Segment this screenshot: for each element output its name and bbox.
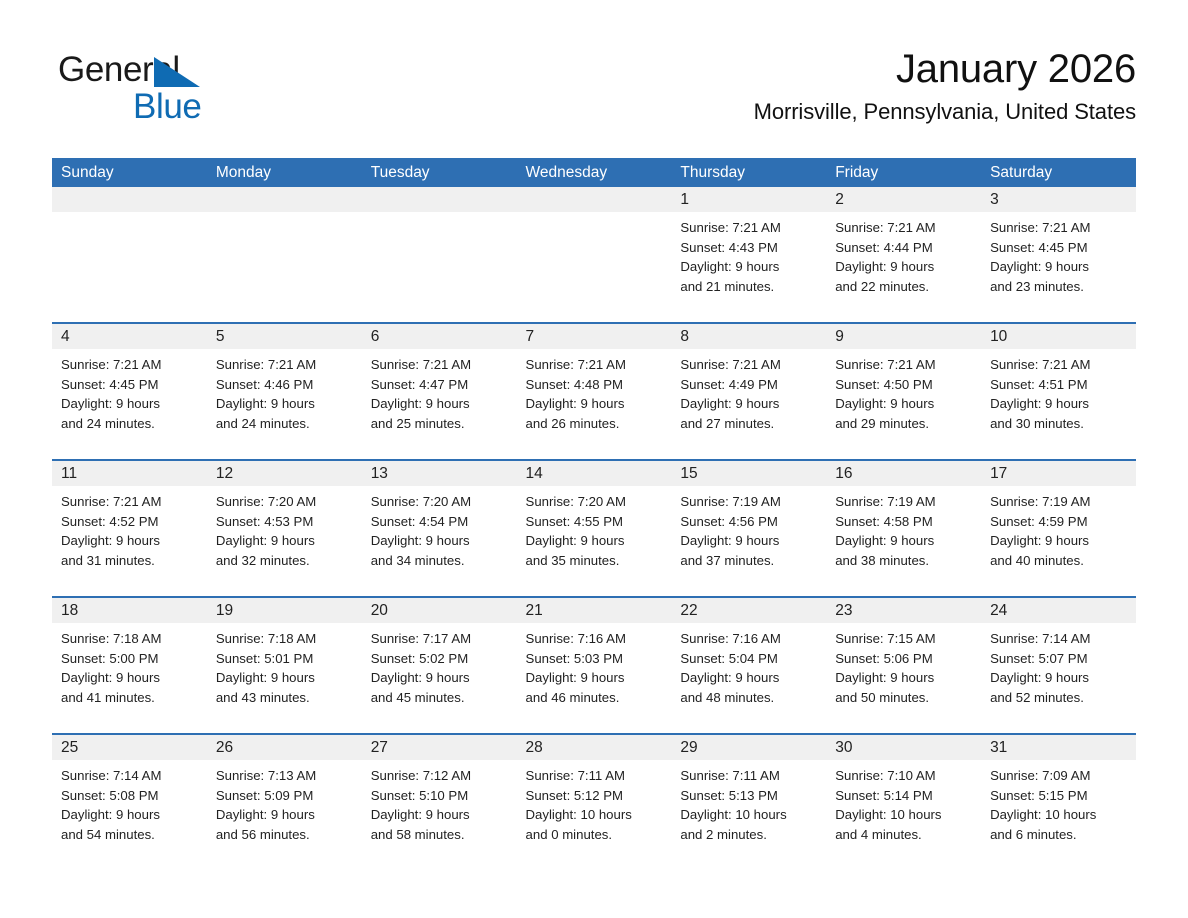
daylight-text-line2: and 48 minutes. — [680, 688, 820, 708]
day-details: Sunrise: 7:16 AMSunset: 5:04 PMDaylight:… — [671, 623, 826, 708]
day-number: 22 — [671, 598, 826, 623]
daylight-text-line1: Daylight: 10 hours — [990, 805, 1130, 825]
day-details: Sunrise: 7:11 AMSunset: 5:12 PMDaylight:… — [517, 760, 672, 845]
sunrise-text: Sunrise: 7:20 AM — [371, 492, 511, 512]
day-cell-inner: 26Sunrise: 7:13 AMSunset: 5:09 PMDayligh… — [207, 735, 362, 870]
day-cell-inner: 11Sunrise: 7:21 AMSunset: 4:52 PMDayligh… — [52, 461, 207, 596]
weekday-header-tuesday: Tuesday — [362, 158, 517, 187]
day-number — [207, 187, 362, 212]
sunset-text: Sunset: 5:00 PM — [61, 649, 201, 669]
sunrise-text: Sunrise: 7:11 AM — [526, 766, 666, 786]
daylight-text-line1: Daylight: 9 hours — [990, 257, 1130, 277]
day-number: 25 — [52, 735, 207, 760]
sunset-text: Sunset: 5:08 PM — [61, 786, 201, 806]
day-details: Sunrise: 7:21 AMSunset: 4:48 PMDaylight:… — [517, 349, 672, 434]
sunrise-text: Sunrise: 7:21 AM — [990, 218, 1130, 238]
day-cell-inner: 22Sunrise: 7:16 AMSunset: 5:04 PMDayligh… — [671, 598, 826, 733]
day-number: 23 — [826, 598, 981, 623]
day-number: 20 — [362, 598, 517, 623]
sunrise-text: Sunrise: 7:14 AM — [990, 629, 1130, 649]
sunrise-text: Sunrise: 7:21 AM — [61, 355, 201, 375]
day-number: 4 — [52, 324, 207, 349]
daylight-text-line1: Daylight: 10 hours — [526, 805, 666, 825]
day-cell-inner: 21Sunrise: 7:16 AMSunset: 5:03 PMDayligh… — [517, 598, 672, 733]
daylight-text-line1: Daylight: 9 hours — [680, 668, 820, 688]
day-number: 11 — [52, 461, 207, 486]
day-details: Sunrise: 7:21 AMSunset: 4:46 PMDaylight:… — [207, 349, 362, 434]
day-details: Sunrise: 7:19 AMSunset: 4:59 PMDaylight:… — [981, 486, 1136, 571]
day-cell[interactable]: 17Sunrise: 7:19 AMSunset: 4:59 PMDayligh… — [981, 460, 1136, 597]
day-cell[interactable]: 4Sunrise: 7:21 AMSunset: 4:45 PMDaylight… — [52, 323, 207, 460]
daylight-text-line1: Daylight: 9 hours — [835, 668, 975, 688]
day-cell[interactable]: 28Sunrise: 7:11 AMSunset: 5:12 PMDayligh… — [517, 734, 672, 870]
weekday-header-saturday: Saturday — [981, 158, 1136, 187]
day-cell-inner: 29Sunrise: 7:11 AMSunset: 5:13 PMDayligh… — [671, 735, 826, 870]
sunrise-text: Sunrise: 7:21 AM — [526, 355, 666, 375]
day-number — [517, 187, 672, 212]
day-cell-inner — [207, 187, 362, 322]
day-details: Sunrise: 7:21 AMSunset: 4:45 PMDaylight:… — [52, 349, 207, 434]
day-cell[interactable]: 16Sunrise: 7:19 AMSunset: 4:58 PMDayligh… — [826, 460, 981, 597]
sunset-text: Sunset: 4:48 PM — [526, 375, 666, 395]
sunrise-text: Sunrise: 7:14 AM — [61, 766, 201, 786]
daylight-text-line2: and 34 minutes. — [371, 551, 511, 571]
generalblue-logo[interactable]: General Blue — [58, 52, 278, 124]
sunset-text: Sunset: 4:46 PM — [216, 375, 356, 395]
daylight-text-line2: and 58 minutes. — [371, 825, 511, 845]
sunset-text: Sunset: 5:10 PM — [371, 786, 511, 806]
sunrise-text: Sunrise: 7:16 AM — [526, 629, 666, 649]
day-cell-inner — [362, 187, 517, 322]
day-cell[interactable]: 21Sunrise: 7:16 AMSunset: 5:03 PMDayligh… — [517, 597, 672, 734]
sunset-text: Sunset: 5:01 PM — [216, 649, 356, 669]
sunrise-text: Sunrise: 7:21 AM — [216, 355, 356, 375]
day-cell[interactable]: 31Sunrise: 7:09 AMSunset: 5:15 PMDayligh… — [981, 734, 1136, 870]
day-cell-inner: 25Sunrise: 7:14 AMSunset: 5:08 PMDayligh… — [52, 735, 207, 870]
day-cell-inner: 10Sunrise: 7:21 AMSunset: 4:51 PMDayligh… — [981, 324, 1136, 459]
daylight-text-line1: Daylight: 10 hours — [680, 805, 820, 825]
day-cell[interactable]: 27Sunrise: 7:12 AMSunset: 5:10 PMDayligh… — [362, 734, 517, 870]
daylight-text-line1: Daylight: 9 hours — [526, 531, 666, 551]
day-cell[interactable]: 24Sunrise: 7:14 AMSunset: 5:07 PMDayligh… — [981, 597, 1136, 734]
day-details: Sunrise: 7:09 AMSunset: 5:15 PMDaylight:… — [981, 760, 1136, 845]
sunrise-text: Sunrise: 7:12 AM — [371, 766, 511, 786]
day-cell[interactable]: 1Sunrise: 7:21 AMSunset: 4:43 PMDaylight… — [671, 187, 826, 323]
sunset-text: Sunset: 4:54 PM — [371, 512, 511, 532]
day-cell[interactable]: 30Sunrise: 7:10 AMSunset: 5:14 PMDayligh… — [826, 734, 981, 870]
sunset-text: Sunset: 4:45 PM — [61, 375, 201, 395]
day-cell[interactable]: 22Sunrise: 7:16 AMSunset: 5:04 PMDayligh… — [671, 597, 826, 734]
sunrise-text: Sunrise: 7:19 AM — [680, 492, 820, 512]
daylight-text-line2: and 43 minutes. — [216, 688, 356, 708]
daylight-text-line1: Daylight: 9 hours — [371, 805, 511, 825]
day-cell[interactable]: 29Sunrise: 7:11 AMSunset: 5:13 PMDayligh… — [671, 734, 826, 870]
day-number: 6 — [362, 324, 517, 349]
daylight-text-line1: Daylight: 9 hours — [61, 394, 201, 414]
daylight-text-line1: Daylight: 9 hours — [526, 668, 666, 688]
calendar-week-row: 18Sunrise: 7:18 AMSunset: 5:00 PMDayligh… — [52, 597, 1136, 734]
day-number: 28 — [517, 735, 672, 760]
day-cell-inner: 31Sunrise: 7:09 AMSunset: 5:15 PMDayligh… — [981, 735, 1136, 870]
day-details: Sunrise: 7:21 AMSunset: 4:44 PMDaylight:… — [826, 212, 981, 297]
daylight-text-line1: Daylight: 9 hours — [990, 394, 1130, 414]
day-details: Sunrise: 7:17 AMSunset: 5:02 PMDaylight:… — [362, 623, 517, 708]
daylight-text-line2: and 21 minutes. — [680, 277, 820, 297]
sunset-text: Sunset: 5:13 PM — [680, 786, 820, 806]
day-cell[interactable]: 26Sunrise: 7:13 AMSunset: 5:09 PMDayligh… — [207, 734, 362, 870]
sunset-text: Sunset: 5:14 PM — [835, 786, 975, 806]
day-cell[interactable]: 19Sunrise: 7:18 AMSunset: 5:01 PMDayligh… — [207, 597, 362, 734]
daylight-text-line1: Daylight: 9 hours — [371, 394, 511, 414]
calendar-week-row: 25Sunrise: 7:14 AMSunset: 5:08 PMDayligh… — [52, 734, 1136, 870]
day-number: 17 — [981, 461, 1136, 486]
day-cell-inner: 13Sunrise: 7:20 AMSunset: 4:54 PMDayligh… — [362, 461, 517, 596]
day-details: Sunrise: 7:13 AMSunset: 5:09 PMDaylight:… — [207, 760, 362, 845]
day-cell-inner: 14Sunrise: 7:20 AMSunset: 4:55 PMDayligh… — [517, 461, 672, 596]
day-cell-inner: 8Sunrise: 7:21 AMSunset: 4:49 PMDaylight… — [671, 324, 826, 459]
day-cell-inner: 18Sunrise: 7:18 AMSunset: 5:00 PMDayligh… — [52, 598, 207, 733]
day-details: Sunrise: 7:15 AMSunset: 5:06 PMDaylight:… — [826, 623, 981, 708]
day-cell-inner: 12Sunrise: 7:20 AMSunset: 4:53 PMDayligh… — [207, 461, 362, 596]
day-number: 21 — [517, 598, 672, 623]
day-number: 8 — [671, 324, 826, 349]
day-number: 16 — [826, 461, 981, 486]
day-cell-inner: 24Sunrise: 7:14 AMSunset: 5:07 PMDayligh… — [981, 598, 1136, 733]
sunrise-text: Sunrise: 7:09 AM — [990, 766, 1130, 786]
day-cell-inner: 23Sunrise: 7:15 AMSunset: 5:06 PMDayligh… — [826, 598, 981, 733]
sunset-text: Sunset: 4:59 PM — [990, 512, 1130, 532]
day-details: Sunrise: 7:21 AMSunset: 4:52 PMDaylight:… — [52, 486, 207, 571]
day-cell-empty — [52, 187, 207, 323]
day-cell-inner: 9Sunrise: 7:21 AMSunset: 4:50 PMDaylight… — [826, 324, 981, 459]
daylight-text-line2: and 4 minutes. — [835, 825, 975, 845]
day-number: 12 — [207, 461, 362, 486]
sunset-text: Sunset: 4:50 PM — [835, 375, 975, 395]
sunrise-text: Sunrise: 7:21 AM — [371, 355, 511, 375]
day-cell-inner: 19Sunrise: 7:18 AMSunset: 5:01 PMDayligh… — [207, 598, 362, 733]
sunset-text: Sunset: 5:15 PM — [990, 786, 1130, 806]
day-cell-inner: 28Sunrise: 7:11 AMSunset: 5:12 PMDayligh… — [517, 735, 672, 870]
day-cell[interactable]: 15Sunrise: 7:19 AMSunset: 4:56 PMDayligh… — [671, 460, 826, 597]
sunset-text: Sunset: 5:02 PM — [371, 649, 511, 669]
sunset-text: Sunset: 4:44 PM — [835, 238, 975, 258]
day-cell[interactable]: 20Sunrise: 7:17 AMSunset: 5:02 PMDayligh… — [362, 597, 517, 734]
sunrise-text: Sunrise: 7:13 AM — [216, 766, 356, 786]
weekday-header-wednesday: Wednesday — [517, 158, 672, 187]
day-details: Sunrise: 7:20 AMSunset: 4:55 PMDaylight:… — [517, 486, 672, 571]
daylight-text-line2: and 0 minutes. — [526, 825, 666, 845]
daylight-text-line1: Daylight: 9 hours — [680, 257, 820, 277]
sunrise-text: Sunrise: 7:21 AM — [835, 218, 975, 238]
day-number: 5 — [207, 324, 362, 349]
sunset-text: Sunset: 4:47 PM — [371, 375, 511, 395]
day-details: Sunrise: 7:21 AMSunset: 4:49 PMDaylight:… — [671, 349, 826, 434]
daylight-text-line1: Daylight: 9 hours — [835, 394, 975, 414]
sunset-text: Sunset: 5:09 PM — [216, 786, 356, 806]
day-cell-inner: 16Sunrise: 7:19 AMSunset: 4:58 PMDayligh… — [826, 461, 981, 596]
triangle-icon — [154, 57, 200, 87]
day-details: Sunrise: 7:11 AMSunset: 5:13 PMDaylight:… — [671, 760, 826, 845]
sunset-text: Sunset: 5:04 PM — [680, 649, 820, 669]
daylight-text-line1: Daylight: 9 hours — [61, 668, 201, 688]
page-subtitle: Morrisville, Pennsylvania, United States — [754, 99, 1136, 125]
day-cell-inner: 7Sunrise: 7:21 AMSunset: 4:48 PMDaylight… — [517, 324, 672, 459]
day-cell-inner: 2Sunrise: 7:21 AMSunset: 4:44 PMDaylight… — [826, 187, 981, 322]
day-details: Sunrise: 7:19 AMSunset: 4:58 PMDaylight:… — [826, 486, 981, 571]
daylight-text-line1: Daylight: 9 hours — [61, 531, 201, 551]
day-cell[interactable]: 2Sunrise: 7:21 AMSunset: 4:44 PMDaylight… — [826, 187, 981, 323]
daylight-text-line2: and 31 minutes. — [61, 551, 201, 571]
sunset-text: Sunset: 5:06 PM — [835, 649, 975, 669]
day-cell[interactable]: 13Sunrise: 7:20 AMSunset: 4:54 PMDayligh… — [362, 460, 517, 597]
day-number: 29 — [671, 735, 826, 760]
daylight-text-line1: Daylight: 9 hours — [216, 394, 356, 414]
calendar-week-row: 11Sunrise: 7:21 AMSunset: 4:52 PMDayligh… — [52, 460, 1136, 597]
day-cell-empty — [362, 187, 517, 323]
daylight-text-line2: and 23 minutes. — [990, 277, 1130, 297]
daylight-text-line1: Daylight: 9 hours — [371, 531, 511, 551]
daylight-text-line1: Daylight: 9 hours — [835, 531, 975, 551]
daylight-text-line1: Daylight: 9 hours — [216, 805, 356, 825]
day-details: Sunrise: 7:21 AMSunset: 4:50 PMDaylight:… — [826, 349, 981, 434]
day-number: 1 — [671, 187, 826, 212]
day-cell[interactable]: 18Sunrise: 7:18 AMSunset: 5:00 PMDayligh… — [52, 597, 207, 734]
day-number: 15 — [671, 461, 826, 486]
daylight-text-line2: and 52 minutes. — [990, 688, 1130, 708]
day-number — [52, 187, 207, 212]
sunrise-text: Sunrise: 7:15 AM — [835, 629, 975, 649]
daylight-text-line2: and 24 minutes. — [61, 414, 201, 434]
day-cell[interactable]: 25Sunrise: 7:14 AMSunset: 5:08 PMDayligh… — [52, 734, 207, 870]
day-number: 30 — [826, 735, 981, 760]
sunset-text: Sunset: 5:03 PM — [526, 649, 666, 669]
daylight-text-line1: Daylight: 9 hours — [680, 531, 820, 551]
day-number: 13 — [362, 461, 517, 486]
day-number: 18 — [52, 598, 207, 623]
day-details: Sunrise: 7:14 AMSunset: 5:08 PMDaylight:… — [52, 760, 207, 845]
daylight-text-line2: and 24 minutes. — [216, 414, 356, 434]
day-cell-empty — [517, 187, 672, 323]
sunset-text: Sunset: 4:51 PM — [990, 375, 1130, 395]
weekday-header-friday: Friday — [826, 158, 981, 187]
sunset-text: Sunset: 4:55 PM — [526, 512, 666, 532]
day-cell[interactable]: 6Sunrise: 7:21 AMSunset: 4:47 PMDaylight… — [362, 323, 517, 460]
logo-line-general: General — [58, 52, 278, 90]
daylight-text-line2: and 56 minutes. — [216, 825, 356, 845]
sunrise-text: Sunrise: 7:16 AM — [680, 629, 820, 649]
day-cell-inner — [517, 187, 672, 322]
sunrise-text: Sunrise: 7:18 AM — [61, 629, 201, 649]
sunrise-text: Sunrise: 7:10 AM — [835, 766, 975, 786]
day-number: 9 — [826, 324, 981, 349]
sunrise-text: Sunrise: 7:20 AM — [526, 492, 666, 512]
day-cell-inner: 15Sunrise: 7:19 AMSunset: 4:56 PMDayligh… — [671, 461, 826, 596]
day-cell[interactable]: 7Sunrise: 7:21 AMSunset: 4:48 PMDaylight… — [517, 323, 672, 460]
calendar-header-row: Sunday Monday Tuesday Wednesday Thursday… — [52, 158, 1136, 187]
sunrise-text: Sunrise: 7:21 AM — [835, 355, 975, 375]
daylight-text-line2: and 26 minutes. — [526, 414, 666, 434]
daylight-text-line2: and 50 minutes. — [835, 688, 975, 708]
day-cell-inner — [52, 187, 207, 322]
daylight-text-line1: Daylight: 9 hours — [680, 394, 820, 414]
daylight-text-line1: Daylight: 9 hours — [216, 668, 356, 688]
sunset-text: Sunset: 4:45 PM — [990, 238, 1130, 258]
sunrise-text: Sunrise: 7:21 AM — [680, 355, 820, 375]
day-cell-inner: 3Sunrise: 7:21 AMSunset: 4:45 PMDaylight… — [981, 187, 1136, 322]
day-details: Sunrise: 7:20 AMSunset: 4:54 PMDaylight:… — [362, 486, 517, 571]
day-number: 19 — [207, 598, 362, 623]
sunrise-text: Sunrise: 7:20 AM — [216, 492, 356, 512]
weekday-header-monday: Monday — [207, 158, 362, 187]
daylight-text-line2: and 54 minutes. — [61, 825, 201, 845]
sunset-text: Sunset: 4:56 PM — [680, 512, 820, 532]
day-number: 24 — [981, 598, 1136, 623]
calendar-body: 1Sunrise: 7:21 AMSunset: 4:43 PMDaylight… — [52, 187, 1136, 870]
day-cell[interactable]: 5Sunrise: 7:21 AMSunset: 4:46 PMDaylight… — [207, 323, 362, 460]
day-details: Sunrise: 7:12 AMSunset: 5:10 PMDaylight:… — [362, 760, 517, 845]
daylight-text-line1: Daylight: 9 hours — [371, 668, 511, 688]
day-number — [362, 187, 517, 212]
day-cell[interactable]: 9Sunrise: 7:21 AMSunset: 4:50 PMDaylight… — [826, 323, 981, 460]
sunset-text: Sunset: 4:58 PM — [835, 512, 975, 532]
daylight-text-line2: and 32 minutes. — [216, 551, 356, 571]
weekday-header-thursday: Thursday — [671, 158, 826, 187]
daylight-text-line1: Daylight: 9 hours — [835, 257, 975, 277]
daylight-text-line2: and 40 minutes. — [990, 551, 1130, 571]
sunrise-text: Sunrise: 7:21 AM — [990, 355, 1130, 375]
day-number: 27 — [362, 735, 517, 760]
daylight-text-line2: and 46 minutes. — [526, 688, 666, 708]
day-cell[interactable]: 8Sunrise: 7:21 AMSunset: 4:49 PMDaylight… — [671, 323, 826, 460]
day-cell[interactable]: 11Sunrise: 7:21 AMSunset: 4:52 PMDayligh… — [52, 460, 207, 597]
sunrise-text: Sunrise: 7:18 AM — [216, 629, 356, 649]
day-details: Sunrise: 7:21 AMSunset: 4:51 PMDaylight:… — [981, 349, 1136, 434]
daylight-text-line2: and 22 minutes. — [835, 277, 975, 297]
day-cell-inner: 30Sunrise: 7:10 AMSunset: 5:14 PMDayligh… — [826, 735, 981, 870]
daylight-text-line2: and 2 minutes. — [680, 825, 820, 845]
weekday-header-sunday: Sunday — [52, 158, 207, 187]
day-details: Sunrise: 7:10 AMSunset: 5:14 PMDaylight:… — [826, 760, 981, 845]
daylight-text-line2: and 29 minutes. — [835, 414, 975, 434]
sunset-text: Sunset: 4:49 PM — [680, 375, 820, 395]
day-number: 2 — [826, 187, 981, 212]
day-cell-inner: 4Sunrise: 7:21 AMSunset: 4:45 PMDaylight… — [52, 324, 207, 459]
day-cell[interactable]: 3Sunrise: 7:21 AMSunset: 4:45 PMDaylight… — [981, 187, 1136, 323]
daylight-text-line2: and 45 minutes. — [371, 688, 511, 708]
sunrise-text: Sunrise: 7:11 AM — [680, 766, 820, 786]
day-cell-inner: 5Sunrise: 7:21 AMSunset: 4:46 PMDaylight… — [207, 324, 362, 459]
day-details: Sunrise: 7:21 AMSunset: 4:43 PMDaylight:… — [671, 212, 826, 297]
daylight-text-line2: and 27 minutes. — [680, 414, 820, 434]
daylight-text-line1: Daylight: 9 hours — [61, 805, 201, 825]
daylight-text-line2: and 30 minutes. — [990, 414, 1130, 434]
day-cell[interactable]: 14Sunrise: 7:20 AMSunset: 4:55 PMDayligh… — [517, 460, 672, 597]
sunrise-text: Sunrise: 7:17 AM — [371, 629, 511, 649]
day-details: Sunrise: 7:14 AMSunset: 5:07 PMDaylight:… — [981, 623, 1136, 708]
day-details: Sunrise: 7:18 AMSunset: 5:01 PMDaylight:… — [207, 623, 362, 708]
sunset-text: Sunset: 5:07 PM — [990, 649, 1130, 669]
daylight-text-line2: and 37 minutes. — [680, 551, 820, 571]
sunrise-text: Sunrise: 7:21 AM — [61, 492, 201, 512]
logo-line-blue: Blue — [58, 89, 278, 124]
title-block: January 2026 Morrisville, Pennsylvania, … — [754, 48, 1136, 125]
sunset-text: Sunset: 4:53 PM — [216, 512, 356, 532]
day-cell-inner: 6Sunrise: 7:21 AMSunset: 4:47 PMDaylight… — [362, 324, 517, 459]
day-number: 14 — [517, 461, 672, 486]
daylight-text-line2: and 41 minutes. — [61, 688, 201, 708]
day-details: Sunrise: 7:19 AMSunset: 4:56 PMDaylight:… — [671, 486, 826, 571]
day-number: 3 — [981, 187, 1136, 212]
daylight-text-line2: and 35 minutes. — [526, 551, 666, 571]
daylight-text-line2: and 38 minutes. — [835, 551, 975, 571]
day-details: Sunrise: 7:18 AMSunset: 5:00 PMDaylight:… — [52, 623, 207, 708]
daylight-text-line2: and 6 minutes. — [990, 825, 1130, 845]
sunset-text: Sunset: 5:12 PM — [526, 786, 666, 806]
daylight-text-line1: Daylight: 9 hours — [990, 668, 1130, 688]
day-number: 26 — [207, 735, 362, 760]
sunset-text: Sunset: 4:43 PM — [680, 238, 820, 258]
calendar-week-row: 4Sunrise: 7:21 AMSunset: 4:45 PMDaylight… — [52, 323, 1136, 460]
day-number: 10 — [981, 324, 1136, 349]
daylight-text-line1: Daylight: 10 hours — [835, 805, 975, 825]
day-cell[interactable]: 10Sunrise: 7:21 AMSunset: 4:51 PMDayligh… — [981, 323, 1136, 460]
sunrise-text: Sunrise: 7:19 AM — [990, 492, 1130, 512]
daylight-text-line2: and 25 minutes. — [371, 414, 511, 434]
day-details: Sunrise: 7:21 AMSunset: 4:47 PMDaylight:… — [362, 349, 517, 434]
day-number: 31 — [981, 735, 1136, 760]
day-number: 7 — [517, 324, 672, 349]
day-cell[interactable]: 23Sunrise: 7:15 AMSunset: 5:06 PMDayligh… — [826, 597, 981, 734]
day-cell-inner: 1Sunrise: 7:21 AMSunset: 4:43 PMDaylight… — [671, 187, 826, 322]
day-cell-inner: 17Sunrise: 7:19 AMSunset: 4:59 PMDayligh… — [981, 461, 1136, 596]
day-details: Sunrise: 7:20 AMSunset: 4:53 PMDaylight:… — [207, 486, 362, 571]
sunset-text: Sunset: 4:52 PM — [61, 512, 201, 532]
sunrise-text: Sunrise: 7:19 AM — [835, 492, 975, 512]
day-cell[interactable]: 12Sunrise: 7:20 AMSunset: 4:53 PMDayligh… — [207, 460, 362, 597]
daylight-text-line1: Daylight: 9 hours — [216, 531, 356, 551]
sunrise-text: Sunrise: 7:21 AM — [680, 218, 820, 238]
day-details: Sunrise: 7:21 AMSunset: 4:45 PMDaylight:… — [981, 212, 1136, 297]
logo-text-blue: Blue — [133, 87, 201, 126]
daylight-text-line1: Daylight: 9 hours — [526, 394, 666, 414]
day-cell-inner: 20Sunrise: 7:17 AMSunset: 5:02 PMDayligh… — [362, 598, 517, 733]
day-cell-empty — [207, 187, 362, 323]
daylight-text-line1: Daylight: 9 hours — [990, 531, 1130, 551]
calendar-week-row: 1Sunrise: 7:21 AMSunset: 4:43 PMDaylight… — [52, 187, 1136, 323]
calendar-table: Sunday Monday Tuesday Wednesday Thursday… — [52, 158, 1136, 870]
day-cell-inner: 27Sunrise: 7:12 AMSunset: 5:10 PMDayligh… — [362, 735, 517, 870]
page-header: General Blue January 2026 Morrisville, P… — [0, 0, 1188, 113]
day-details: Sunrise: 7:16 AMSunset: 5:03 PMDaylight:… — [517, 623, 672, 708]
page-title: January 2026 — [754, 48, 1136, 90]
